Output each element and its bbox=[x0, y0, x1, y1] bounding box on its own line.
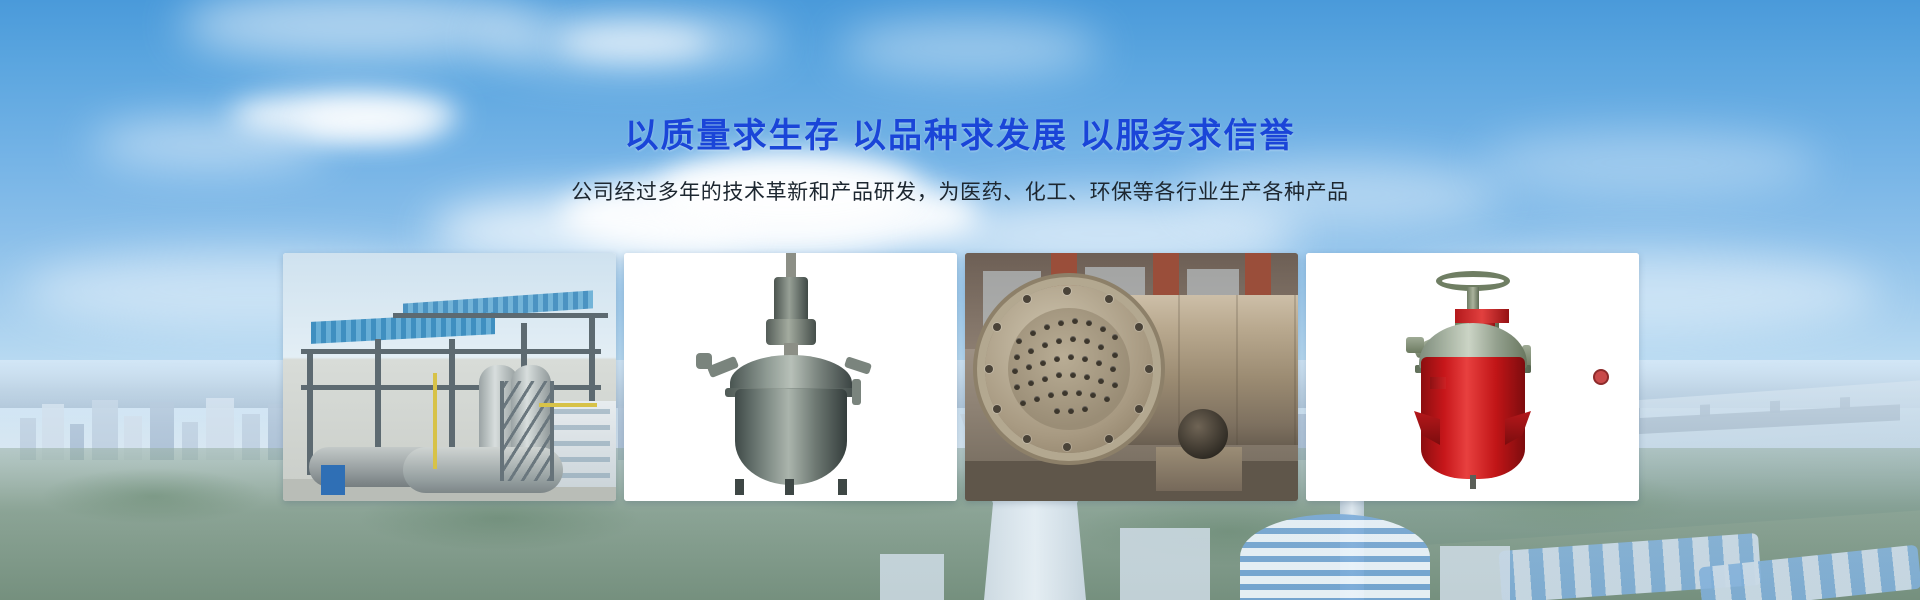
gallery-card-chemical-plant-structure[interactable] bbox=[283, 253, 616, 501]
plant-block-b bbox=[1440, 546, 1510, 600]
plant-block-a bbox=[1120, 528, 1210, 600]
photo-stainless-steel-reactor bbox=[624, 253, 957, 501]
photo-red-enamel-reactor bbox=[1306, 253, 1639, 501]
gallery-card-stainless-steel-reactor[interactable] bbox=[624, 253, 957, 501]
photo-chemical-plant-structure bbox=[283, 253, 616, 501]
plant-block-c bbox=[880, 554, 944, 600]
banner-subtitle: 公司经过多年的技术革新和产品研发，为医药、化工、环保等各行业生产各种产品 bbox=[0, 176, 1920, 206]
banner-stage: 以质量求生存 以品种求发展 以服务求信誉 公司经过多年的技术革新和产品研发，为医… bbox=[0, 0, 1920, 600]
product-image-gallery bbox=[283, 253, 1643, 501]
banner-headline: 以质量求生存 以品种求发展 以服务求信誉 bbox=[0, 108, 1920, 157]
tube-sheet bbox=[1008, 308, 1130, 430]
gallery-card-shell-and-tube-heat-exchanger[interactable] bbox=[965, 253, 1298, 501]
storage-dome bbox=[1240, 514, 1430, 600]
photo-shell-and-tube-heat-exchanger bbox=[965, 253, 1298, 501]
gallery-card-red-enamel-reactor[interactable] bbox=[1306, 253, 1639, 501]
